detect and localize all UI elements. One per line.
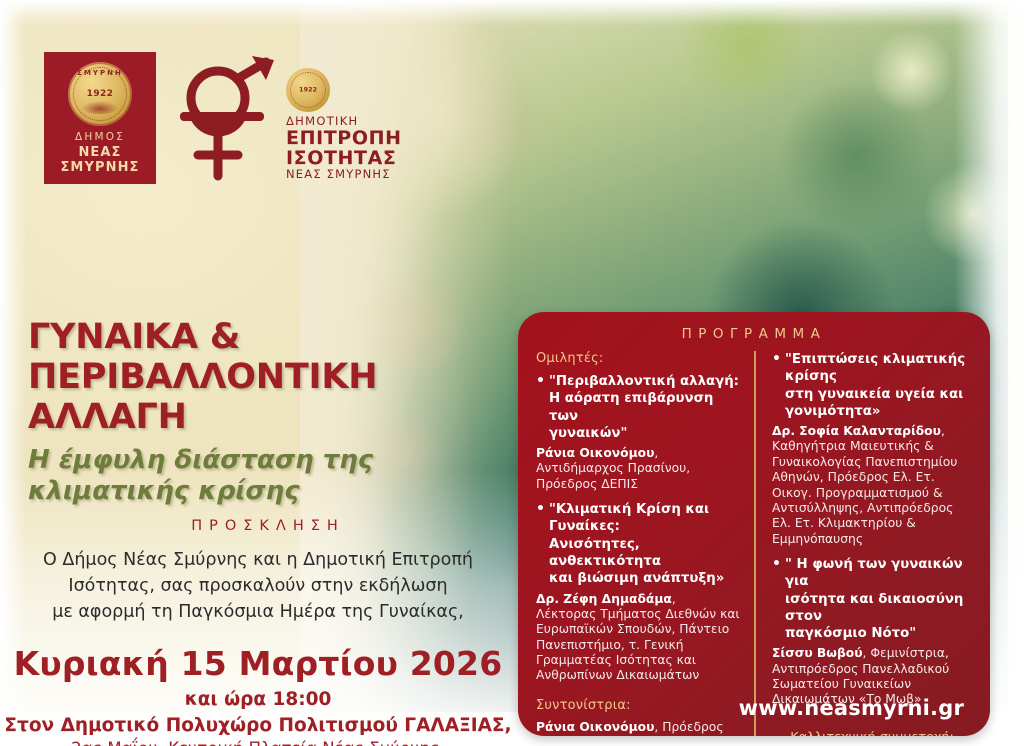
moderator-name: Ράνια Οικονόμου bbox=[536, 720, 654, 734]
event-time: και ώρα 18:00 bbox=[0, 689, 516, 710]
event-date: Κυριακή 15 Μαρτίου 2026 bbox=[0, 644, 516, 683]
logo-row: ΣΜΥΡΝΗ 1922 ΔΗΜΟΣ ΝΕΑΣ ΣΜΥΡΝΗΣ bbox=[44, 52, 402, 184]
talk-title-line-2: στη γυναικεία υγεία και bbox=[785, 387, 963, 402]
equality-logo-line2: ΕΠΙΤΡΟΠΗ bbox=[286, 128, 402, 148]
invitation-line-2: Ισότητας, σας προσκαλούν στην εκδήλωση bbox=[24, 574, 492, 600]
seal-year-text: 1922 bbox=[68, 89, 132, 99]
moderator-label: Συντονίστρια: bbox=[536, 698, 740, 713]
talk-speaker-name: Δρ. Ζέφη Δημαδάμα bbox=[536, 592, 672, 606]
talk-title-line-3: γονιμότητα» bbox=[785, 404, 881, 419]
invitation-keyword: ΠΡΟΣΚΛΗΣΗ bbox=[0, 518, 516, 534]
website-url[interactable]: www.neasmyrni.gr bbox=[739, 696, 964, 720]
municipality-seal-icon: ΣΜΥΡΝΗ 1922 bbox=[68, 62, 132, 126]
talk-title-line-1: "Επιπτώσεις κλιματικής κρίσης bbox=[785, 352, 965, 384]
seal-figure-icon bbox=[82, 101, 118, 114]
program-heading: ΠΡΟΓΡΑΜΜΑ bbox=[536, 326, 972, 342]
invitation-line-1: Ο Δήμος Νέας Σμύρνης και η Δημοτική Επιτ… bbox=[24, 548, 492, 574]
talk-item: " Η φωνή των γυναικών για ισότητα και δι… bbox=[772, 556, 972, 708]
talk-title: " Η φωνή των γυναικών για ισότητα και δι… bbox=[772, 556, 972, 642]
municipality-logo: ΣΜΥΡΝΗ 1922 ΔΗΜΟΣ ΝΕΑΣ ΣΜΥΡΝΗΣ bbox=[44, 52, 156, 184]
talk-speaker: Ράνια Οικονόμου, Αντιδήμαρχος Πρασίνου, … bbox=[536, 446, 740, 492]
page-title: ΓΥΝΑΙΚΑ & ΠΕΡΙΒΑΛΛΟΝΤΙΚΗ ΑΛΛΑΓΗ bbox=[0, 318, 516, 438]
equality-logo-line3: ΙΣΟΤΗΤΑΣ bbox=[286, 148, 402, 168]
program-column-right: "Επιπτώσεις κλιματικής κρίσης στη γυναικ… bbox=[754, 351, 972, 736]
talk-item: "Περιβαλλοντική αλλαγή: Η αόρατη επιβάρυ… bbox=[536, 373, 740, 492]
municipality-logo-line2: ΝΕΑΣ ΣΜΥΡΝΗΣ bbox=[52, 145, 148, 175]
combined-gender-symbol-icon bbox=[174, 54, 282, 184]
talk-title-line-3: και βιώσιμη ανάπτυξη» bbox=[549, 571, 724, 586]
talk-speaker-name: Σίσσυ Βωβού bbox=[772, 646, 863, 660]
event-address: 2ας Μαΐου, Κεντρική Πλατεία Νέας Σμύρνης… bbox=[0, 739, 516, 746]
moderator-entry: Ράνια Οικονόμου, Πρόεδρος της Δημοτικής … bbox=[536, 720, 740, 736]
talk-title-line-1: "Περιβαλλοντική αλλαγή: bbox=[549, 374, 739, 389]
talk-title-line-3: γυναικών" bbox=[549, 426, 627, 441]
event-poster: ΣΜΥΡΝΗ 1922 ΔΗΜΟΣ ΝΕΑΣ ΣΜΥΡΝΗΣ bbox=[0, 0, 1024, 746]
speakers-label: Ομιλητές: bbox=[536, 351, 740, 366]
talk-title-line-2: ισότητα και δικαιοσύνη στον bbox=[785, 592, 963, 624]
title-line-1: ΓΥΝΑΙΚΑ & bbox=[28, 318, 516, 358]
equality-logo-text: 1922 ΔΗΜΟΤΙΚΗ ΕΠΙΤΡΟΠΗ ΙΣΟΤΗΤΑΣ ΝΕΑΣ ΣΜΥ… bbox=[286, 68, 402, 184]
program-columns: Ομιλητές: "Περιβαλλοντική αλλαγή: Η αόρα… bbox=[536, 351, 972, 736]
equality-logo-line4: ΝΕΑΣ ΣΜΥΡΝΗΣ bbox=[286, 168, 402, 180]
talk-title-line-2: Η αόρατη επιβάρυνση των bbox=[549, 391, 713, 423]
artistic-participation-block: Καλλιτεχνική συμμετοχή: Αλεξάνδρα Πολυχρ… bbox=[772, 730, 972, 736]
talk-title: "Επιπτώσεις κλιματικής κρίσης στη γυναικ… bbox=[772, 351, 972, 420]
talk-item: "Κλιματική Κρίση και Γυναίκες: Ανισότητε… bbox=[536, 501, 740, 684]
equality-logo-line1: ΔΗΜΟΤΙΚΗ bbox=[286, 115, 402, 127]
talk-speaker: Δρ. Ζέφη Δημαδάμα, Λέκτορας Τμήματος Διε… bbox=[536, 592, 740, 684]
talk-title: "Περιβαλλοντική αλλαγή: Η αόρατη επιβάρυ… bbox=[536, 373, 740, 442]
left-content-column: ΓΥΝΑΙΚΑ & ΠΕΡΙΒΑΛΛΟΝΤΙΚΗ ΑΛΛΑΓΗ Η έμφυλη… bbox=[0, 318, 516, 746]
talk-title-line-2: Ανισότητες, ανθεκτικότητα bbox=[549, 537, 661, 569]
talk-title-line-1: " Η φωνή των γυναικών για bbox=[785, 557, 963, 589]
talk-speaker-name: Δρ. Σοφία Καλανταρίδου bbox=[772, 424, 941, 438]
equality-seal-year: 1922 bbox=[286, 87, 330, 94]
equality-seal-icon: 1922 bbox=[286, 68, 330, 112]
program-panel: ΠΡΟΓΡΑΜΜΑ Ομιλητές: "Περιβαλλοντική αλλα… bbox=[518, 312, 990, 736]
invitation-body: Ο Δήμος Νέας Σμύρνης και η Δημοτική Επιτ… bbox=[0, 548, 516, 626]
title-line-2: ΠΕΡΙΒΑΛΛΟΝΤΙΚΗ ΑΛΛΑΓΗ bbox=[28, 358, 516, 438]
photo-top-fade bbox=[0, 0, 1024, 26]
equality-committee-logo: 1922 ΔΗΜΟΤΙΚΗ ΕΠΙΤΡΟΠΗ ΙΣΟΤΗΤΑΣ ΝΕΑΣ ΣΜΥ… bbox=[174, 54, 402, 184]
program-column-left: Ομιλητές: "Περιβαλλοντική αλλαγή: Η αόρα… bbox=[536, 351, 754, 736]
talk-item: "Επιπτώσεις κλιματικής κρίσης στη γυναικ… bbox=[772, 351, 972, 547]
talk-speaker: Δρ. Σοφία Καλανταρίδου, Καθηγήτρια Μαιευ… bbox=[772, 424, 972, 547]
seal-arc-text: ΣΜΥΡΝΗ bbox=[68, 69, 132, 77]
talk-title-line-3: παγκόσμιο Νότο" bbox=[785, 626, 916, 641]
event-venue: Στον Δημοτικό Πολυχώρο Πολιτισμού ΓΑΛΑΞΙ… bbox=[0, 714, 516, 738]
invitation-line-3: με αφορμή τη Παγκόσμια Ημέρα της Γυναίκα… bbox=[24, 600, 492, 626]
moderator-block: Συντονίστρια: Ράνια Οικονόμου, Πρόεδρος … bbox=[536, 698, 740, 736]
subtitle-line-1: Η έμφυλη διάσταση της bbox=[28, 445, 516, 477]
talk-title-line-1: "Κλιματική Κρίση και Γυναίκες: bbox=[549, 502, 709, 534]
talk-title: "Κλιματική Κρίση και Γυναίκες: Ανισότητε… bbox=[536, 501, 740, 587]
artistic-label: Καλλιτεχνική συμμετοχή: bbox=[772, 730, 972, 736]
page-subtitle: Η έμφυλη διάσταση της κλιματικής κρίσης bbox=[0, 445, 516, 508]
subtitle-line-2: κλιματικής κρίσης bbox=[28, 476, 516, 508]
talk-speaker-role: , Καθηγήτρια Μαιευτικής & Γυναικολογίας … bbox=[772, 424, 957, 546]
talk-speaker-name: Ράνια Οικονόμου bbox=[536, 446, 654, 460]
municipality-logo-line1: ΔΗΜΟΣ bbox=[52, 131, 148, 143]
